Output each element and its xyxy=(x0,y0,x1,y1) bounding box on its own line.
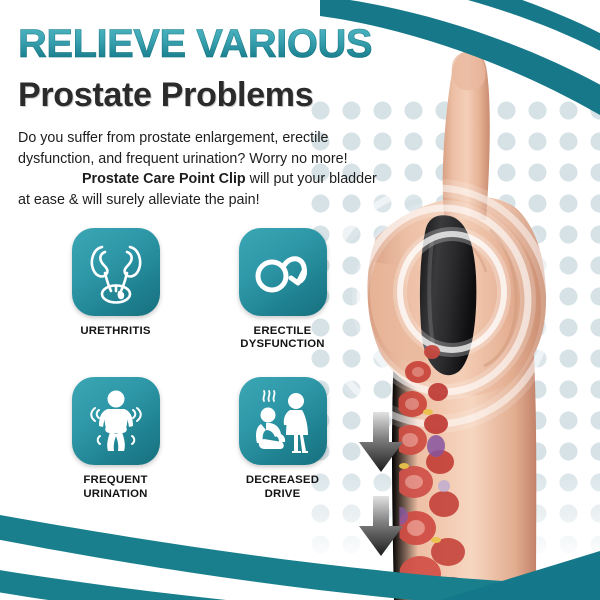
male-symbol-icon xyxy=(252,247,314,297)
person-crossed-legs-icon xyxy=(86,388,146,454)
page-title: RELIEVE VARIOUS xyxy=(18,22,372,67)
body-copy: Do you suffer from prostate enlargement,… xyxy=(18,128,390,211)
feature-icon-box xyxy=(239,228,327,316)
feature-icon-box xyxy=(239,377,327,465)
feature-label: DECREASED DRIVE xyxy=(221,474,344,500)
feature-label-line1: FREQUENT xyxy=(83,474,147,486)
feature-label-line2: DRIVE xyxy=(265,488,301,500)
feature-label: FREQUENT URINATION xyxy=(54,474,177,500)
feature-label-line1: ERECTILE xyxy=(254,325,312,337)
feature-item-frequent-urination[interactable]: FREQUENT URINATION xyxy=(54,377,177,500)
feature-label-line1: DECREASED xyxy=(246,474,319,486)
body-line-4: at ease & will surely alleviate the pain… xyxy=(18,192,260,208)
downward-arrow-icon xyxy=(358,412,404,474)
feature-item-urethritis[interactable]: URETHRITIS xyxy=(54,228,177,351)
feature-item-erectile-dysfunction[interactable]: ERECTILE DYSFUNCTION xyxy=(221,228,344,351)
body-line-2: dysfunction, and frequent urination? Wor… xyxy=(18,151,348,167)
page-subtitle: Prostate Problems xyxy=(18,76,313,115)
kidney-bladder-icon xyxy=(85,239,147,305)
advertisement-banner: RELIEVE VARIOUS Prostate Problems Do you… xyxy=(0,0,600,600)
feature-icon-box xyxy=(72,377,160,465)
feature-label: ERECTILE DYSFUNCTION xyxy=(221,325,344,351)
feature-row-2: FREQUENT URINATION xyxy=(54,377,344,500)
corner-wedge-decoration xyxy=(440,525,600,600)
feature-label-line2: URINATION xyxy=(83,488,147,500)
product-name: Prostate Care Point Clip xyxy=(82,171,246,187)
body-line-1: Do you suffer from prostate enlargement,… xyxy=(18,130,328,146)
swoosh-decoration-top-right xyxy=(320,0,600,140)
feature-grid: URETHRITIS ERECTILE DYSFUNCTION xyxy=(54,228,344,501)
feature-label-line2: DYSFUNCTION xyxy=(240,338,324,350)
couple-low-drive-icon xyxy=(250,389,316,453)
feature-row-1: URETHRITIS ERECTILE DYSFUNCTION xyxy=(54,228,344,351)
body-line-3-tail: will put your bladder xyxy=(246,171,377,187)
feature-icon-box xyxy=(72,228,160,316)
feature-item-decreased-drive[interactable]: DECREASED DRIVE xyxy=(221,377,344,500)
feature-label: URETHRITIS xyxy=(54,325,177,338)
